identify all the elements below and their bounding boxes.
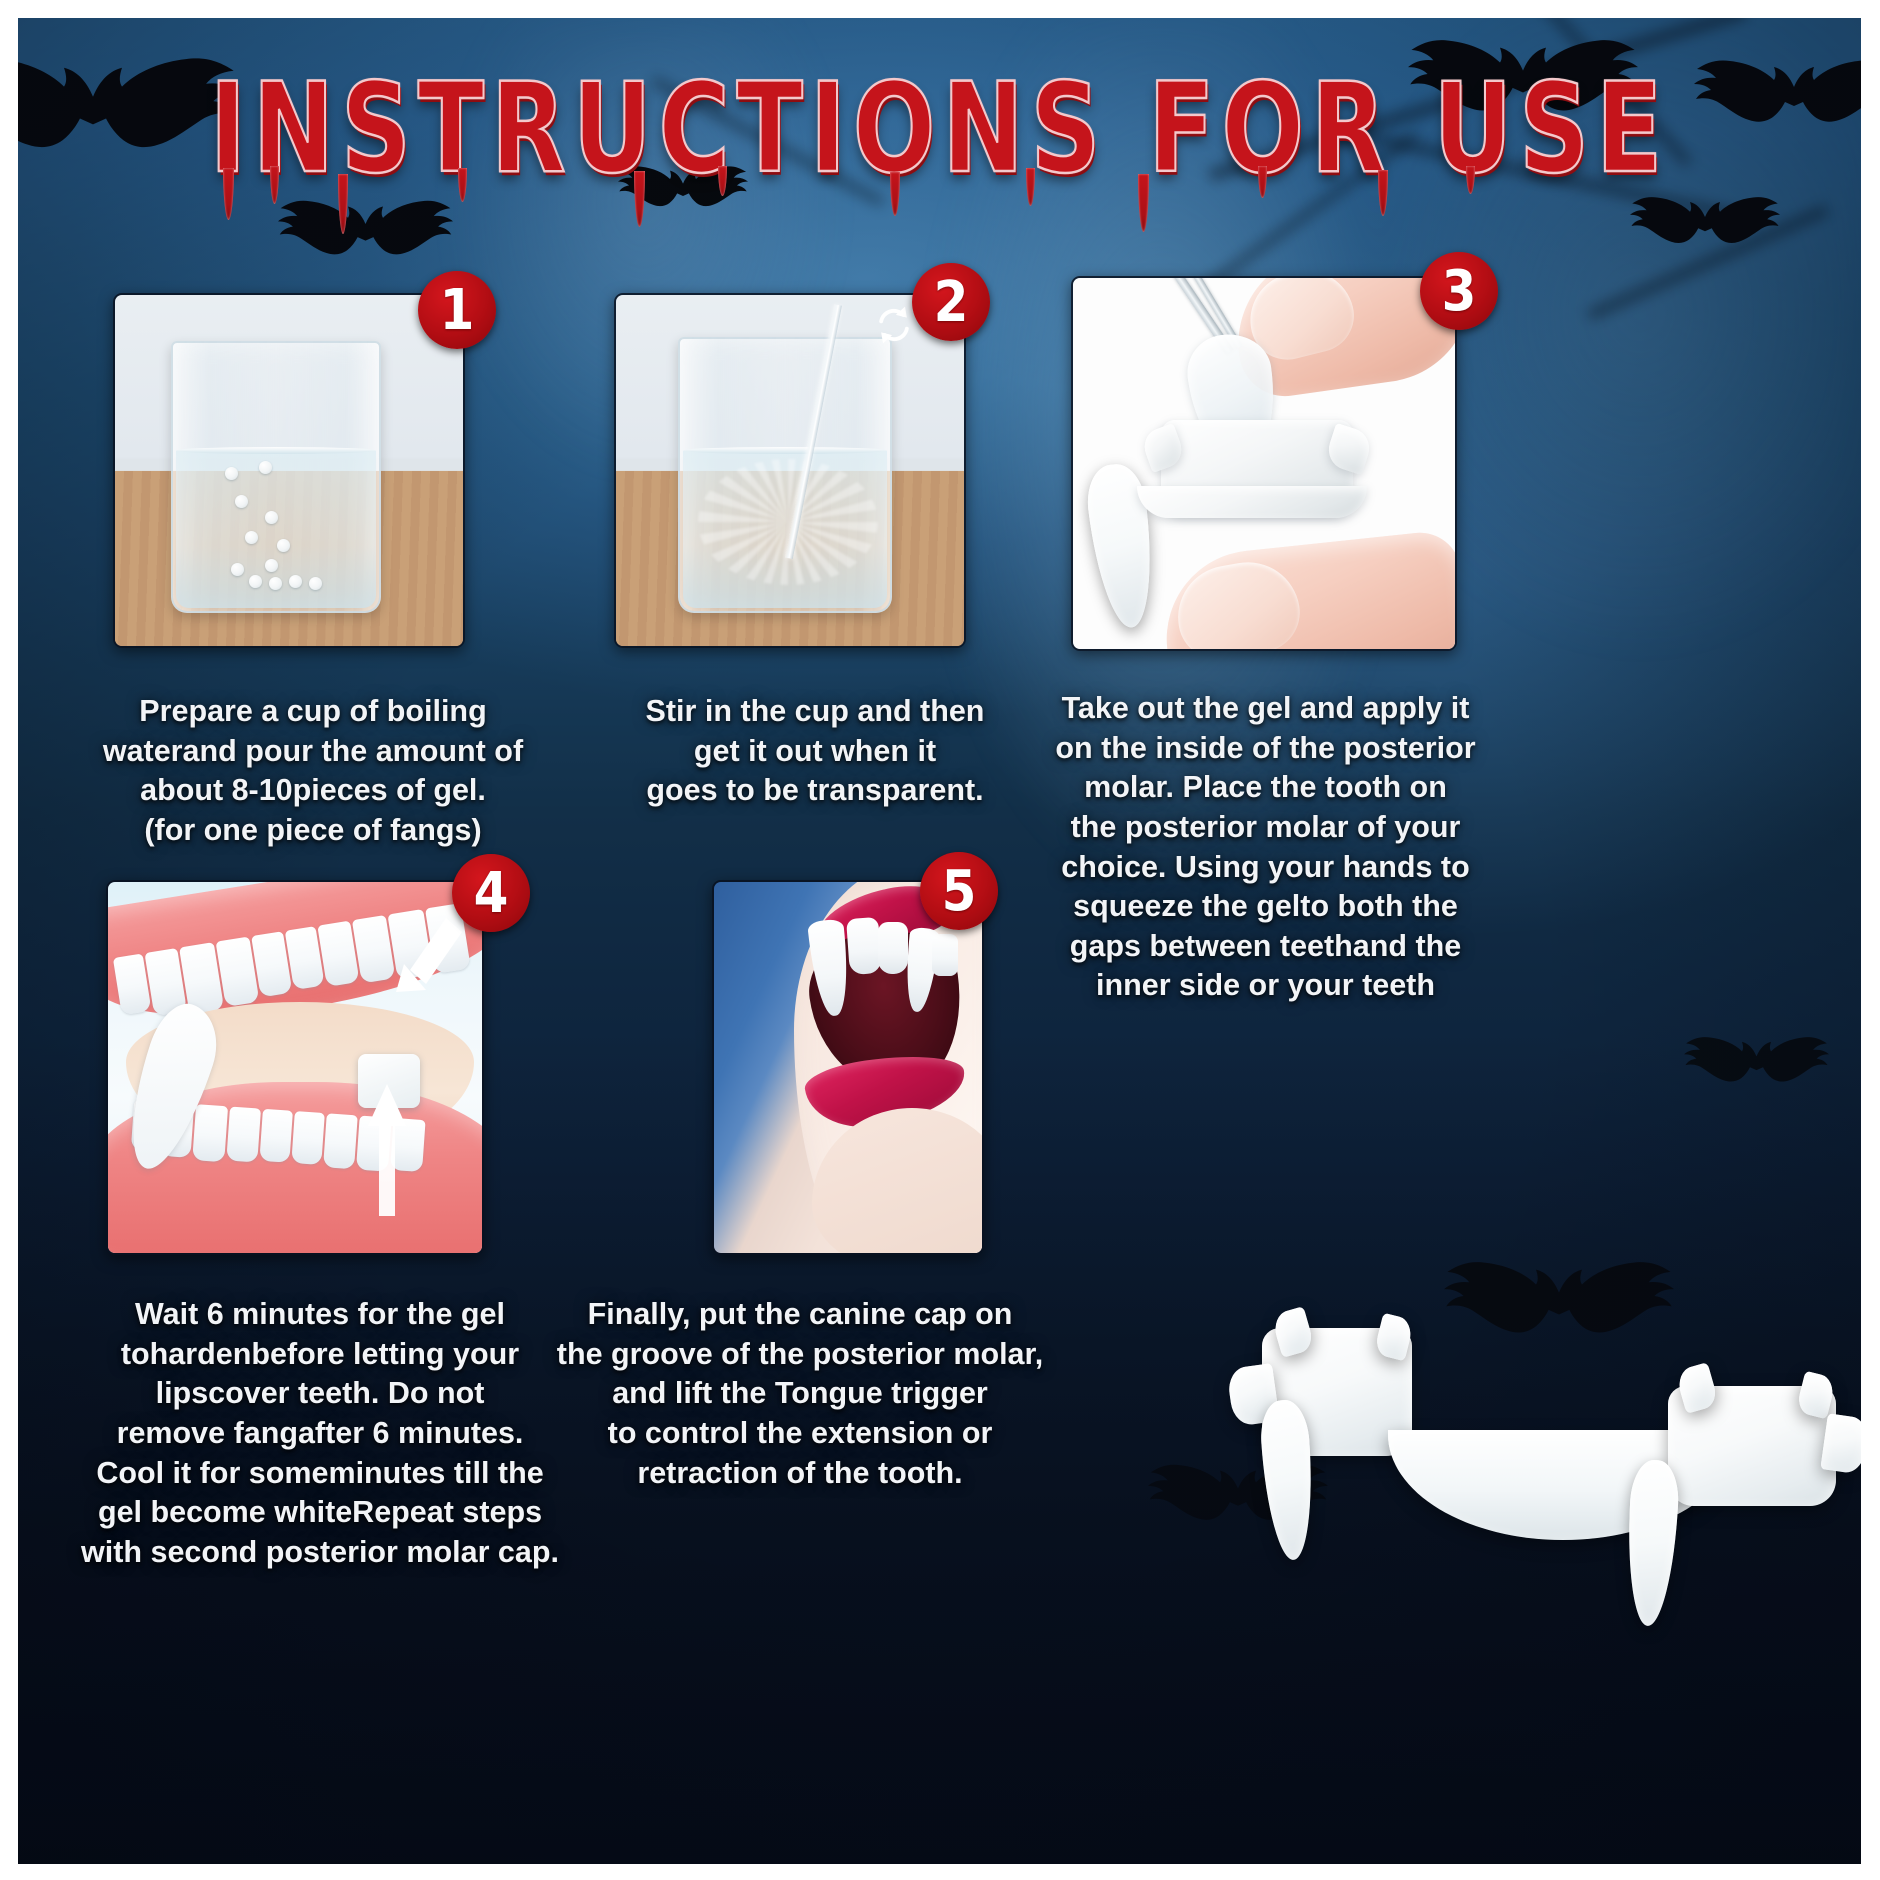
gel-bead <box>249 575 262 588</box>
gel-bead <box>235 495 248 508</box>
gel-bead <box>269 577 282 590</box>
step-5: 5 Finally, put the canine cap on the gro… <box>530 880 1070 1493</box>
page-title-text: INSTRUCTIONS FOR USE <box>210 56 1670 201</box>
product-fang-right <box>1624 1459 1681 1627</box>
step-1-badge: 1 <box>418 271 496 349</box>
step-1-photo-wrap: 1 <box>93 293 533 648</box>
product-photo <box>1228 1308 1861 1678</box>
gel-bead <box>265 511 278 524</box>
step-1-number: 1 <box>440 282 475 338</box>
step-3-photo-wrap: 3 <box>1033 276 1498 651</box>
step-4-caption: Wait 6 minutes for the gel tohardenbefor… <box>70 1295 570 1572</box>
step-5-badge: 5 <box>920 852 998 930</box>
step-5-photo <box>712 880 984 1255</box>
step-4-badge: 4 <box>452 854 530 932</box>
step-5-photo-wrap: 5 <box>530 880 1070 1255</box>
step-1-photo <box>113 293 465 648</box>
step-1-caption: Prepare a cup of boiling waterand pour t… <box>93 692 533 851</box>
step-4-photo-wrap: 4 <box>70 880 570 1255</box>
refresh-stir-icon <box>872 303 916 347</box>
incisor <box>878 922 908 974</box>
page-title: INSTRUCTIONS FOR USE <box>18 56 1861 169</box>
arrow-up-icon <box>364 1082 410 1222</box>
tooth <box>259 1109 293 1163</box>
step-3-number: 3 <box>1442 263 1477 319</box>
step-1: 1 Prepare a cup of boiling waterand pour… <box>93 293 533 851</box>
step-2-number: 2 <box>934 274 969 330</box>
molar <box>932 934 958 976</box>
tooth <box>291 1111 325 1165</box>
tooth <box>226 1107 261 1163</box>
water-surface-line <box>176 447 376 454</box>
step-3: 3 Take out the gel and apply it on the i… <box>1033 276 1498 1006</box>
poster-frame: INSTRUCTIONS FOR USE <box>18 18 1861 1864</box>
step-2-badge: 2 <box>912 263 990 341</box>
step-4-photo <box>106 880 484 1255</box>
step-4: 4 Wait 6 minutes for the gel tohardenbef… <box>70 880 570 1572</box>
step-5-number: 5 <box>942 863 977 919</box>
fang-bridge <box>1137 486 1367 518</box>
gel-bead <box>265 559 278 572</box>
gel-bead <box>245 531 258 544</box>
arrow-down-icon <box>390 912 470 998</box>
step-2-photo <box>614 293 966 648</box>
gel-bead <box>309 577 322 590</box>
step-2: 2 Stir in the cup and then get it out wh… <box>590 293 1040 811</box>
stir-swirl <box>698 459 878 585</box>
water-surface-line <box>683 447 887 454</box>
incisor <box>846 917 882 975</box>
step-3-badge: 3 <box>1420 252 1498 330</box>
step-3-photo <box>1071 276 1457 651</box>
tooth <box>323 1113 358 1169</box>
product-cap-tab-right <box>1820 1413 1861 1474</box>
gel-bead <box>225 467 238 480</box>
water-glass <box>171 341 381 613</box>
step-2-caption: Stir in the cup and then get it out when… <box>590 692 1040 811</box>
gel-bead <box>259 461 272 474</box>
step-5-caption: Finally, put the canine cap on the groov… <box>530 1295 1070 1493</box>
step-2-photo-wrap: 2 <box>590 293 1040 648</box>
step-4-number: 4 <box>474 865 509 921</box>
gel-bead <box>277 539 290 552</box>
tooth <box>192 1104 228 1162</box>
water-glass <box>678 337 892 613</box>
step-3-caption: Take out the gel and apply it on the ins… <box>1033 689 1498 1006</box>
gel-bead <box>231 563 244 576</box>
gel-bead <box>289 575 302 588</box>
